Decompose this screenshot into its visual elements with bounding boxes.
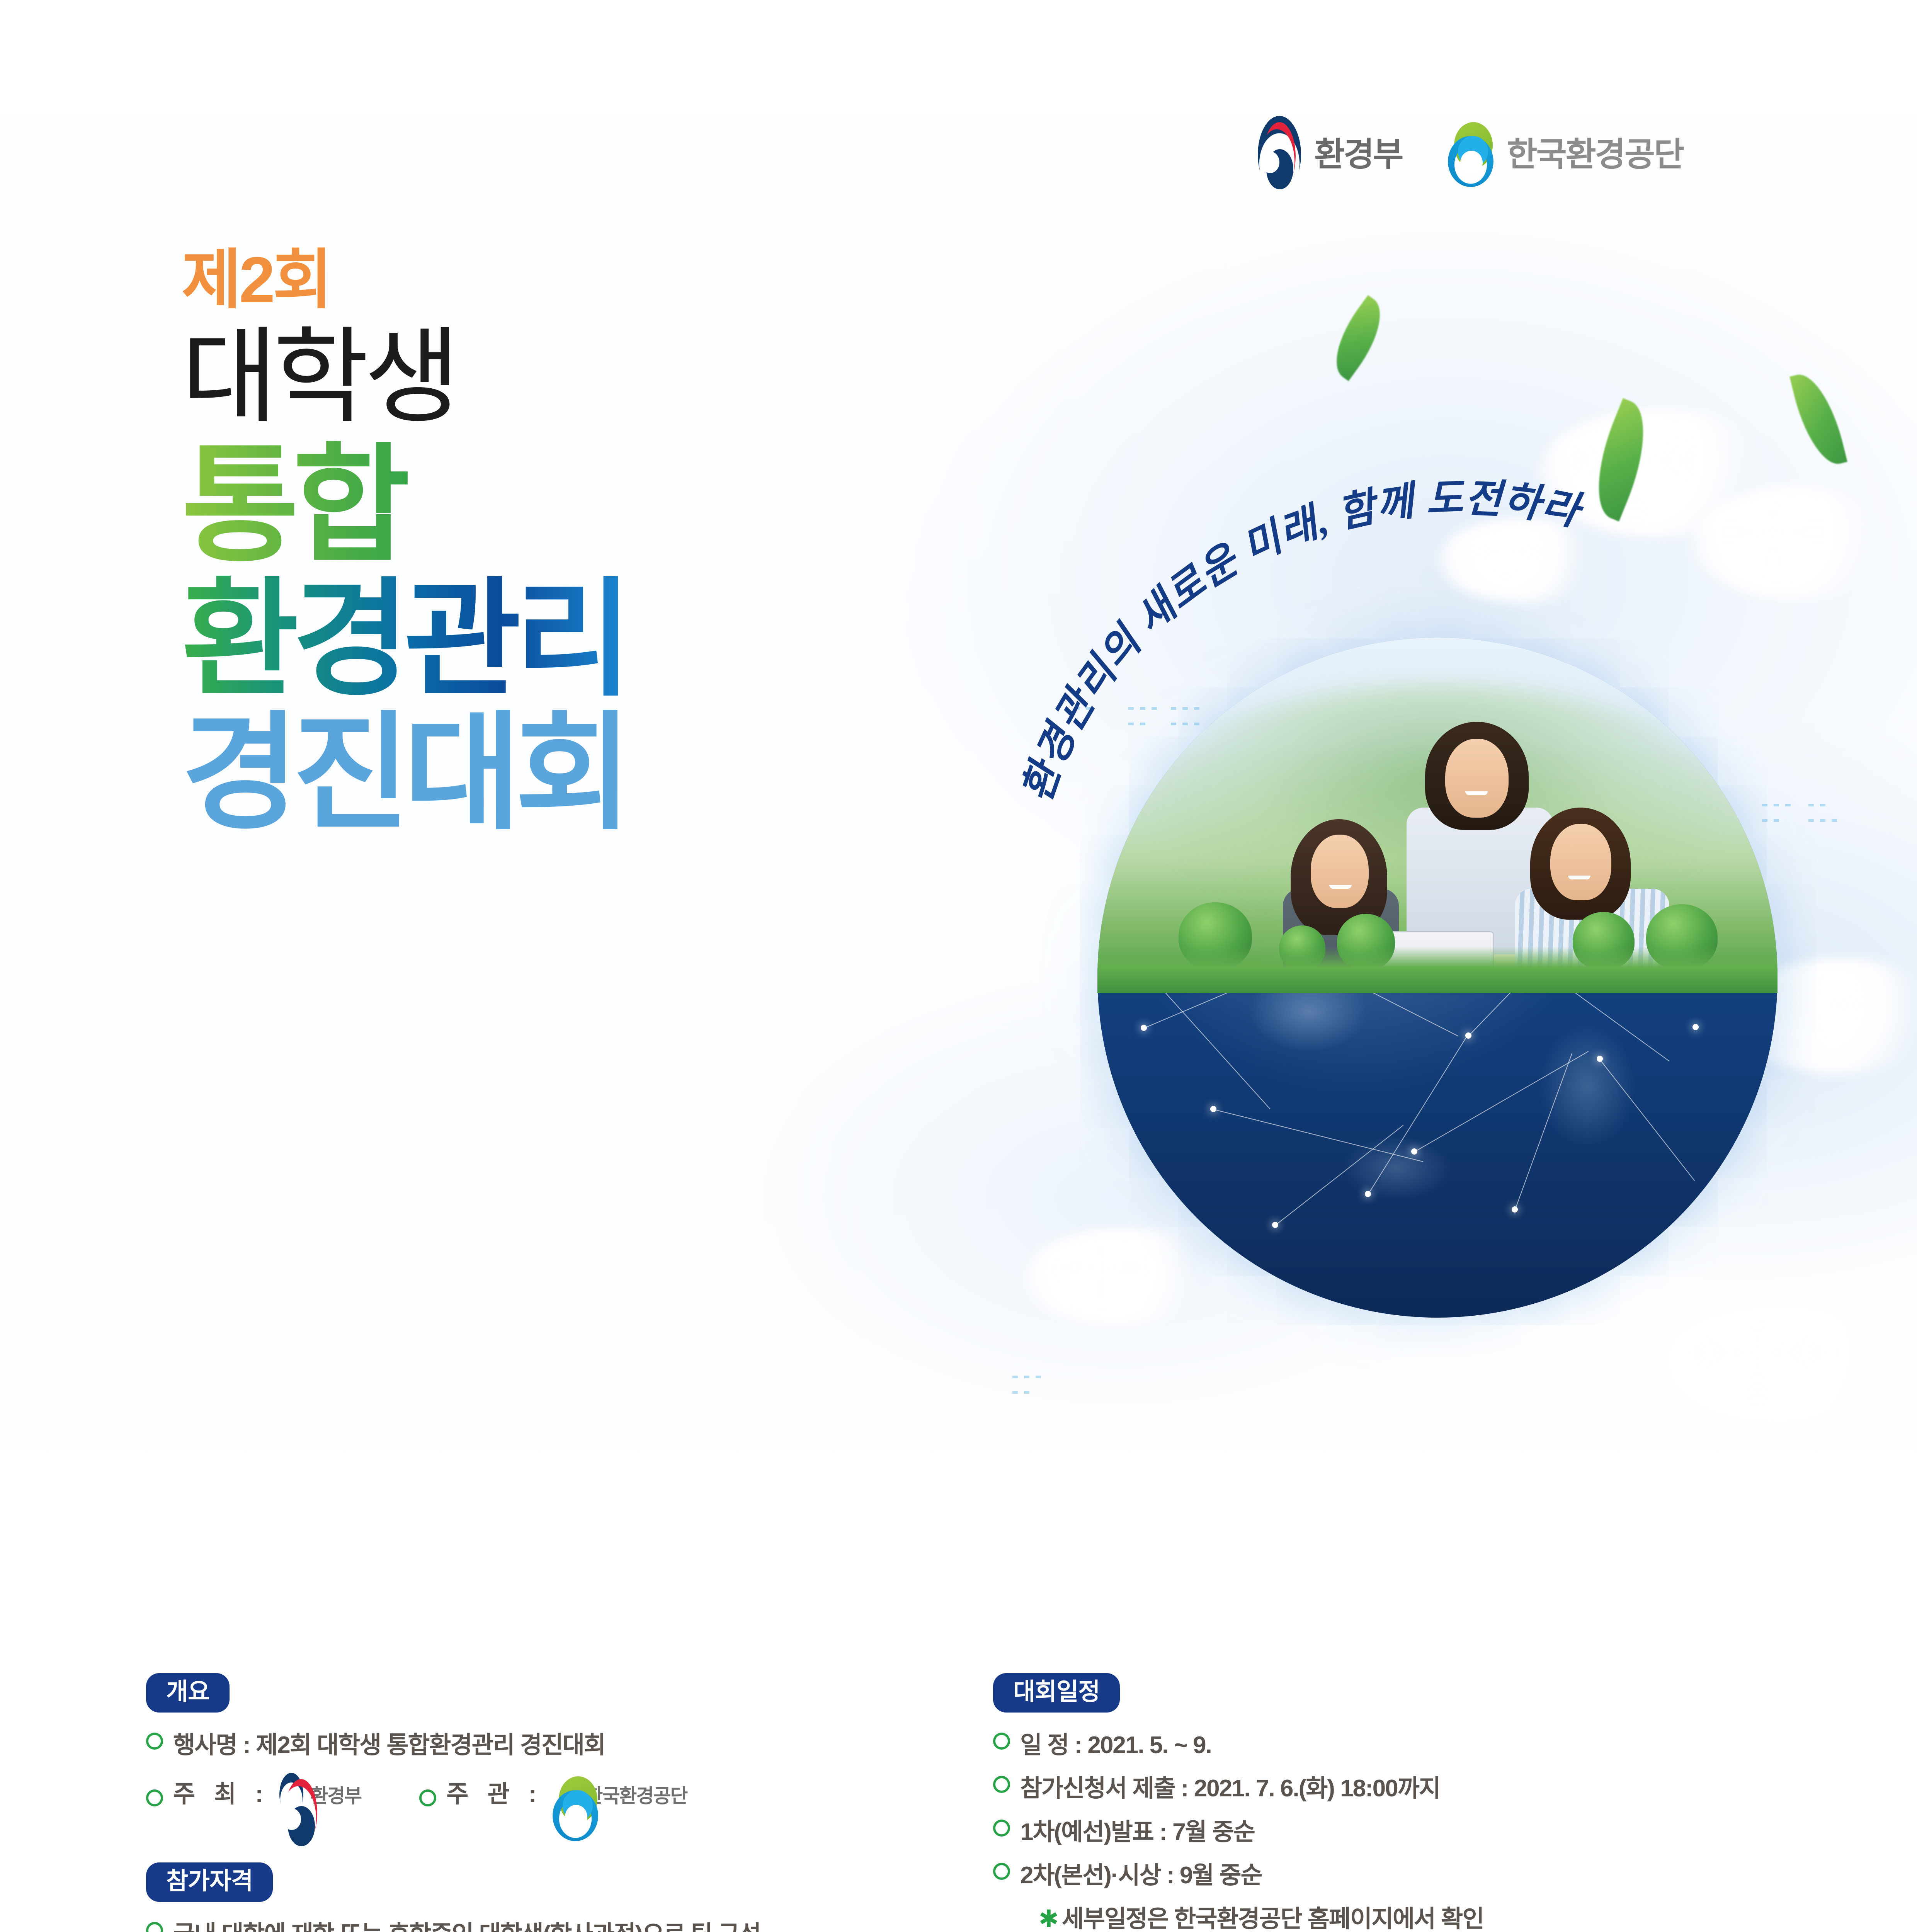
inline-logo-moe: 환경부 xyxy=(279,1773,361,1816)
inline-logo-keco: 한국환경공단 xyxy=(553,1776,687,1813)
bullet-circle-icon xyxy=(146,1922,163,1932)
content-column-left: 개요 행사명 : 제2회 대학생 통합환경관리 경진대회 주 최 : 환경부 주… xyxy=(146,1673,911,1932)
bullet-circle-icon xyxy=(419,1789,436,1806)
header-logos: 환경부 한국환경공단 xyxy=(1258,116,1683,193)
eligibility-item-text: 국내 대학에 재학 또는 휴학중인 대학생(학사과정)으로 팀 구성 xyxy=(173,1917,760,1932)
bullet-circle-icon xyxy=(993,1863,1010,1880)
overview-item-event-name: 행사명 : 제2회 대학생 통합환경관리 경진대회 xyxy=(146,1728,911,1763)
schedule-item: 일 정 : 2021. 5. ~ 9. xyxy=(993,1728,1789,1763)
overview-organizer-org: 한국환경공단 xyxy=(585,1781,687,1808)
schedule-note: ✱세부일정은 한국환경공단 홈페이지에서 확인 xyxy=(1039,1902,1789,1932)
keco-oval-icon xyxy=(1448,122,1493,187)
bullet-circle-icon xyxy=(993,1776,1010,1793)
poster-title-block: 제2회 대학생 통합 환경관리 경진대회 xyxy=(182,247,626,838)
moe-taegeuk-icon xyxy=(279,1773,303,1816)
content-column-right: 대회일정 일 정 : 2021. 5. ~ 9. 참가신청서 제출 : 2021… xyxy=(993,1673,1789,1932)
overview-host-label: 주 최 : xyxy=(173,1777,269,1812)
overview-event-name-text: 행사명 : 제2회 대학생 통합환경관리 경진대회 xyxy=(173,1728,605,1763)
title-audience: 대학생 xyxy=(182,325,626,430)
badge-schedule: 대회일정 xyxy=(993,1673,1120,1713)
schedule-note-text: 세부일정은 한국환경공단 홈페이지에서 확인 xyxy=(1062,1906,1483,1932)
schedule-item-text: 1차(예선)발표 : 7월 중순 xyxy=(1020,1815,1255,1850)
bullet-circle-icon xyxy=(993,1733,1010,1750)
grass-band xyxy=(1097,947,1778,993)
bullet-circle-icon xyxy=(993,1820,1010,1837)
hero-artwork: 환경관리의 새로운 미래, 함께 도전하라 xyxy=(958,456,1917,1445)
bullet-circle-icon xyxy=(146,1789,163,1806)
keco-oval-icon xyxy=(553,1776,578,1813)
moe-taegeuk-icon xyxy=(1258,116,1301,193)
moe-logo-label: 환경부 xyxy=(1314,138,1402,171)
section-schedule: 대회일정 일 정 : 2021. 5. ~ 9. 참가신청서 제출 : 2021… xyxy=(993,1673,1789,1932)
eligibility-item: 국내 대학에 재학 또는 휴학중인 대학생(학사과정)으로 팀 구성 xyxy=(146,1917,911,1932)
schedule-item-text: 참가신청서 제출 : 2021. 7. 6.(화) 18:00까지 xyxy=(1020,1771,1440,1806)
title-edition: 제2회 xyxy=(182,247,626,312)
badge-overview: 개요 xyxy=(146,1673,230,1713)
logo-keco: 한국환경공단 xyxy=(1448,122,1683,187)
asterisk-marker: ✱ xyxy=(1039,1906,1058,1932)
section-overview: 개요 행사명 : 제2회 대학생 통합환경관리 경진대회 주 최 : 환경부 주… xyxy=(146,1673,911,1816)
section-eligibility: 참가자격 국내 대학에 재학 또는 휴학중인 대학생(학사과정)으로 팀 구성 … xyxy=(146,1862,911,1932)
overview-host-row: 주 최 : 환경부 주 관 : 한국환경공단 xyxy=(146,1773,911,1816)
overview-organizer: 주 관 : 한국환경공단 xyxy=(419,1776,687,1813)
title-line-1: 통합 xyxy=(182,440,626,571)
schedule-item-text: 2차(본선)·시상 : 9월 중순 xyxy=(1020,1858,1262,1893)
schedule-item: 참가신청서 제출 : 2021. 7. 6.(화) 18:00까지 xyxy=(993,1771,1789,1806)
badge-eligibility: 참가자격 xyxy=(146,1862,273,1902)
schedule-item: 2차(본선)·시상 : 9월 중순 xyxy=(993,1858,1789,1893)
title-line-3: 경진대회 xyxy=(182,708,626,838)
overview-host: 주 최 : 환경부 xyxy=(146,1773,361,1816)
schedule-item: 1차(예선)발표 : 7월 중순 xyxy=(993,1815,1789,1850)
schedule-item-text: 일 정 : 2021. 5. ~ 9. xyxy=(1020,1728,1211,1763)
overview-organizer-label: 주 관 : xyxy=(446,1777,543,1812)
keco-logo-label: 한국환경공단 xyxy=(1507,138,1683,171)
overview-host-org: 환경부 xyxy=(310,1781,361,1808)
logo-ministry-of-environment: 환경부 xyxy=(1258,116,1402,193)
title-line-2: 환경관리 xyxy=(182,575,626,705)
bullet-circle-icon xyxy=(146,1733,163,1750)
